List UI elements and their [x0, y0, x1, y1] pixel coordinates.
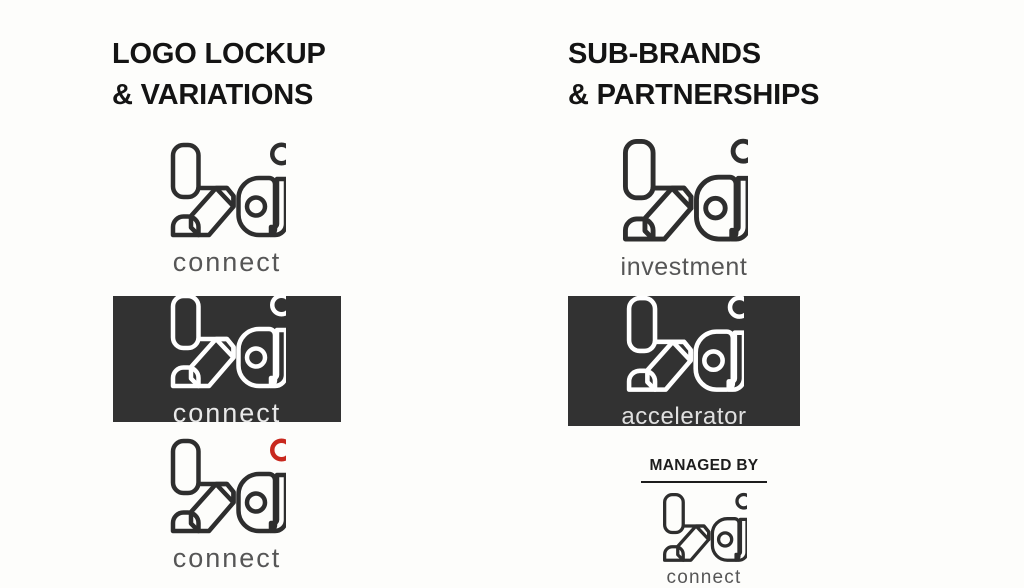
logo-kai-connect-dark-panel: connect	[113, 296, 341, 422]
logo-managed-by-endorsement: MANAGED BY connect	[641, 458, 767, 587]
kai-wordmark-icon	[168, 436, 286, 536]
kai-wordmark-icon	[661, 491, 747, 564]
logo-subword-accelerator: accelerator	[621, 405, 746, 429]
logo-subword-connect: connect	[173, 545, 282, 572]
logo-kai-connect-light: connect	[113, 148, 341, 268]
logo-subword-investment: investment	[621, 255, 748, 280]
kai-wordmark-icon	[168, 291, 286, 391]
logo-kai-investment-light: investment	[568, 146, 800, 270]
managed-by-divider	[641, 481, 767, 483]
kai-wordmark-icon	[624, 293, 744, 395]
column-heading-logo-lockup: LOGO LOCKUP & VARIATIONS	[112, 34, 326, 116]
kai-wordmark-icon	[168, 140, 286, 240]
logo-subword-connect: connect	[667, 568, 742, 587]
logo-subword-connect: connect	[173, 400, 282, 427]
logo-kai-connect-accent-dot: connect	[113, 444, 341, 564]
kai-wordmark-icon	[620, 136, 748, 244]
managed-by-label: MANAGED BY	[650, 458, 759, 474]
logo-kai-accelerator-dark-panel: accelerator	[568, 296, 800, 426]
logo-subword-connect: connect	[173, 249, 282, 276]
brand-sheet: LOGO LOCKUP & VARIATIONS SUB-BRANDS & PA…	[0, 0, 1024, 576]
column-heading-sub-brands: SUB-BRANDS & PARTNERSHIPS	[568, 34, 819, 116]
